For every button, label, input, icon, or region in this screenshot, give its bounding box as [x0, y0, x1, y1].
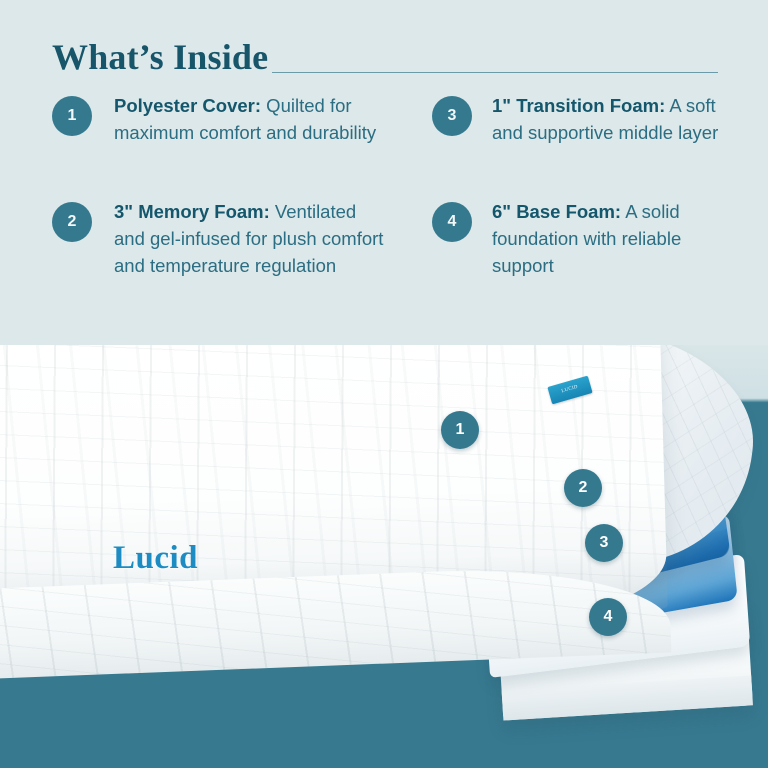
feature-badge-4: 4: [432, 202, 472, 242]
lucid-logo: Lucid: [113, 540, 198, 577]
feature-text-2: 3" Memory Foam: Ventilated and gel-infus…: [114, 198, 392, 279]
page-title: What’s Inside: [52, 36, 268, 78]
feature-item-4: 4 6" Base Foam: A solid foundation with …: [432, 198, 742, 279]
feature-badge-2: 2: [52, 202, 92, 242]
callout-badge-1: 1: [441, 411, 479, 449]
callout-badge-3: 3: [585, 524, 623, 562]
feature-badge-1: 1: [52, 96, 92, 136]
info-panel: What’s Inside 1 Polyester Cover: Quilted…: [0, 0, 768, 345]
infographic-canvas: What’s Inside 1 Polyester Cover: Quilted…: [0, 0, 768, 768]
feature-title-3: 1" Transition Foam:: [492, 95, 665, 116]
feature-text-4: 6" Base Foam: A solid foundation with re…: [492, 198, 742, 279]
feature-item-2: 2 3" Memory Foam: Ventilated and gel-inf…: [52, 198, 392, 279]
feature-item-3: 3 1" Transition Foam: A soft and support…: [432, 92, 742, 146]
callout-badge-2: 2: [564, 469, 602, 507]
feature-text-1: Polyester Cover: Quilted for maximum com…: [114, 92, 392, 146]
feature-title-1: Polyester Cover:: [114, 95, 261, 116]
title-divider: [272, 72, 718, 73]
feature-item-1: 1 Polyester Cover: Quilted for maximum c…: [52, 92, 392, 146]
feature-text-3: 1" Transition Foam: A soft and supportiv…: [492, 92, 742, 146]
feature-badge-3: 3: [432, 96, 472, 136]
feature-title-4: 6" Base Foam:: [492, 201, 621, 222]
feature-title-2: 3" Memory Foam:: [114, 201, 270, 222]
feature-list: 1 Polyester Cover: Quilted for maximum c…: [0, 92, 768, 342]
callout-badge-4: 4: [589, 598, 627, 636]
